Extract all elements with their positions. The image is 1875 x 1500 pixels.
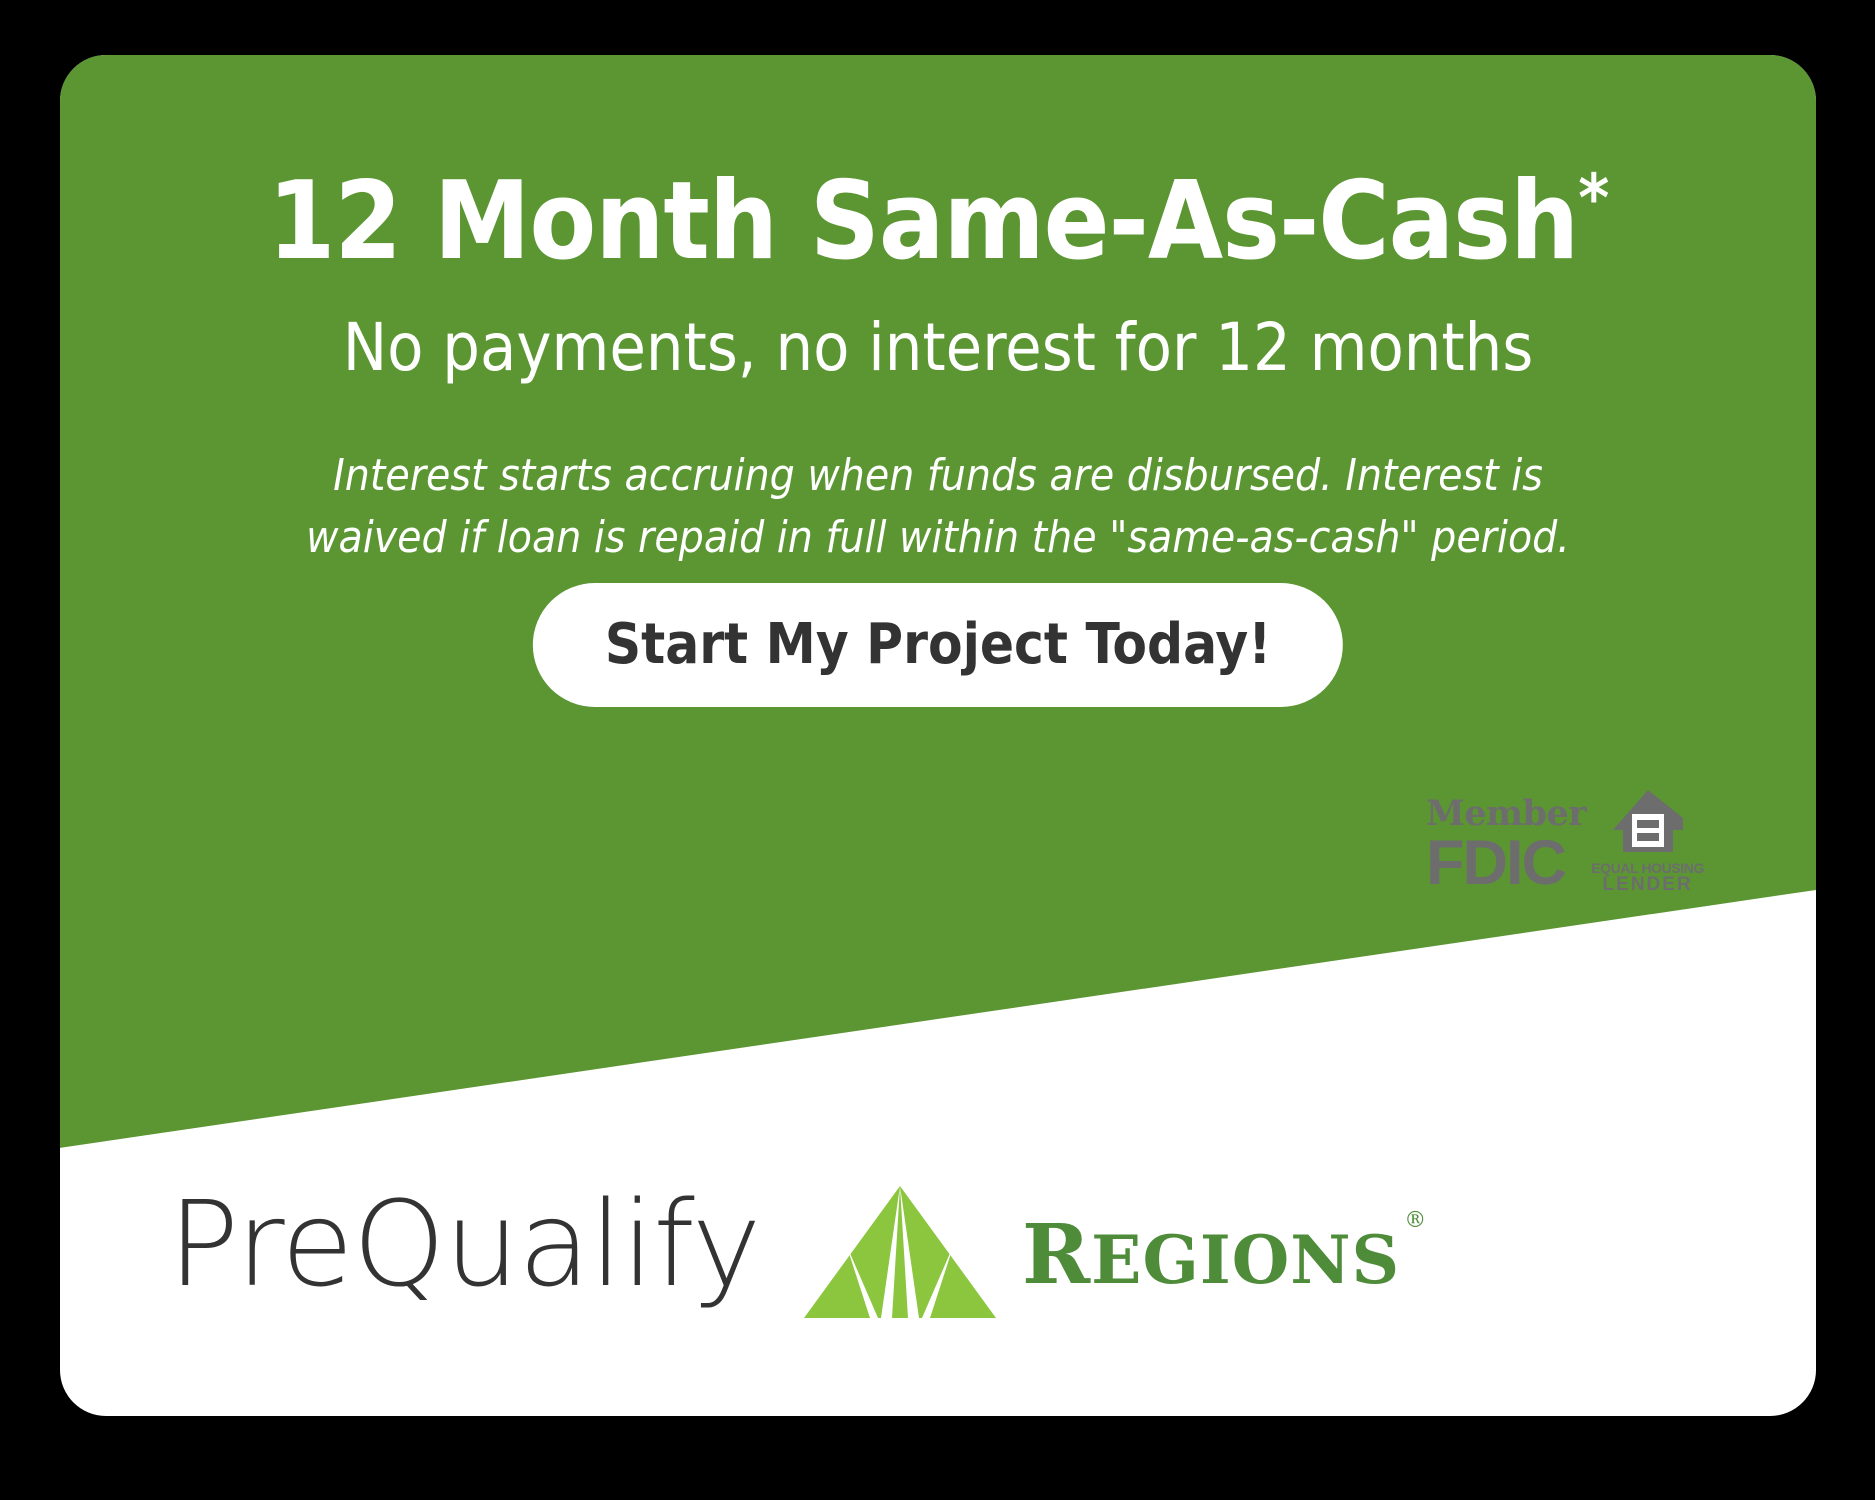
regions-wordmark-initial: R bbox=[1022, 1207, 1091, 1303]
headline-text: 12 Month Same-As-Cash bbox=[268, 159, 1578, 284]
regions-pyramid-icon bbox=[802, 1182, 998, 1327]
subheadline: No payments, no interest for 12 months bbox=[60, 310, 1816, 386]
page-title: 12 Month Same-As-Cash* bbox=[60, 165, 1816, 278]
start-my-project-button[interactable]: Start My Project Today! bbox=[533, 583, 1343, 707]
equal-housing-line-2: LENDER bbox=[1591, 875, 1704, 894]
registered-trademark-icon: ® bbox=[1404, 1210, 1426, 1232]
equal-housing-lender-house-icon bbox=[1611, 841, 1685, 858]
member-fdic-badge: Member FDIC EQUAL HOUSING LENDER bbox=[1426, 788, 1704, 895]
disclaimer-line-1: Interest starts accruing when funds are … bbox=[60, 445, 1816, 507]
headline-asterisk: * bbox=[1578, 160, 1608, 237]
regions-wordmark-rest: EGIONS bbox=[1091, 1221, 1400, 1299]
promo-card: 12 Month Same-As-Cash* No payments, no i… bbox=[60, 55, 1816, 1416]
regions-wordmark: REGIONS® bbox=[1022, 1214, 1400, 1296]
fdic-label: FDIC bbox=[1426, 832, 1586, 895]
member-label: Member bbox=[1426, 796, 1586, 831]
disclaimer-text: Interest starts accruing when funds are … bbox=[60, 445, 1816, 570]
equal-housing-line-1: EQUAL HOUSING bbox=[1591, 861, 1704, 875]
equal-housing-lender-block: EQUAL HOUSING LENDER bbox=[1591, 788, 1704, 894]
regions-logo: REGIONS® bbox=[802, 1182, 1400, 1327]
prequalify-logo: PreQualify bbox=[168, 1185, 760, 1303]
disclaimer-line-2: waived if loan is repaid in full within … bbox=[60, 507, 1816, 569]
fdic-text-block: Member FDIC bbox=[1426, 796, 1586, 895]
